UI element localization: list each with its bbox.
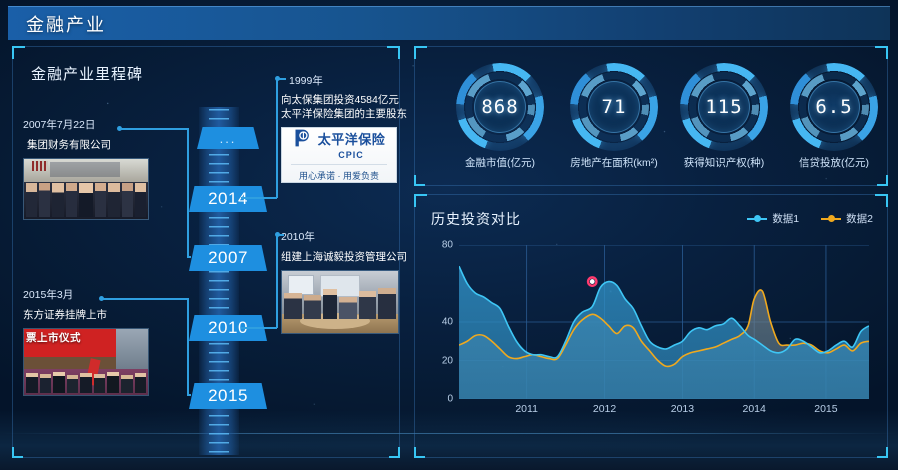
chart-plot[interactable] xyxy=(459,245,869,399)
event-date: 2007年7月22日 xyxy=(23,117,173,132)
legend-label: 数据2 xyxy=(846,211,873,226)
timeline-event-2015: 2015年3月 东方证券挂牌上市 票上市仪式 xyxy=(23,287,173,396)
connector-v-1999 xyxy=(276,78,278,198)
x-tick-label: 2012 xyxy=(593,403,616,415)
gauge-label: 信贷投放(亿元) xyxy=(775,155,893,170)
event-text-line1: 东方证券挂牌上市 xyxy=(23,308,173,322)
connector-v-2010 xyxy=(276,234,278,328)
gauge-value: 71 xyxy=(602,96,627,118)
event-date: 2015年3月 xyxy=(23,287,173,302)
event-text-line1: 集团财务有限公司 xyxy=(27,138,173,152)
gauge-label: 获得知识产权(种) xyxy=(665,155,783,170)
timeline-year-2015[interactable]: 2015 xyxy=(189,383,267,409)
chart-area: 0204080 20112012201320142015 xyxy=(429,241,875,421)
timeline-event-2010: 2010年 组建上海诚毅投资管理公司 xyxy=(281,229,403,334)
event-date: 1999年 xyxy=(289,73,399,88)
connector-h2-1999 xyxy=(241,197,277,199)
event-photo-2010 xyxy=(281,270,399,334)
chart-svg xyxy=(459,245,869,399)
connector-v-2015 xyxy=(187,298,189,395)
event-text-line2: 太平洋保险集团的主要股东 xyxy=(281,107,399,121)
x-tick-label: 2013 xyxy=(671,403,694,415)
chart-panel: 历史投资对比 数据1 数据2 0204080 20112012201320142… xyxy=(414,194,888,458)
y-tick-label: 0 xyxy=(431,394,453,405)
x-tick-label: 2014 xyxy=(743,403,766,415)
cpic-brand-en: CPIC xyxy=(338,150,364,160)
gauge-inner-disc: 6.5 xyxy=(808,81,860,133)
gauge-value: 6.5 xyxy=(815,96,852,118)
gauge-label: 房地产在面积(km²) xyxy=(555,155,673,170)
x-tick-label: 2011 xyxy=(515,403,538,415)
gauge-rings: 115 xyxy=(680,63,768,151)
gauge-inner-disc: 115 xyxy=(698,81,750,133)
gauge-inner-disc: 868 xyxy=(474,81,526,133)
timeline-event-1999: 1999年 向太保集团投资4584亿元 太平洋保险集团的主要股东 太平洋保险 C… xyxy=(281,73,399,183)
timeline-badge-more[interactable]: ... xyxy=(197,127,259,149)
connector-h2-2007 xyxy=(187,256,191,258)
timeline-year-2014[interactable]: 2014 xyxy=(189,186,267,212)
kpi-gauge-2[interactable]: 115 获得知识产权(种) xyxy=(665,63,783,181)
connector-h-2007 xyxy=(120,128,188,130)
connector-h-1999 xyxy=(278,78,286,80)
kpi-gauge-1[interactable]: 71 房地产在面积(km²) xyxy=(555,63,673,181)
gauge-label: 金融市值(亿元) xyxy=(441,155,559,170)
page-header: 金融产业 xyxy=(8,6,890,40)
series1-area xyxy=(459,266,869,399)
y-tick-label: 40 xyxy=(431,317,453,328)
cpic-divider xyxy=(291,164,387,165)
timeline-event-2007: 2007年7月22日 集团财务有限公司 xyxy=(23,117,173,220)
timeline-panel-title: 金融产业里程碑 xyxy=(31,63,143,84)
y-tick-label: 80 xyxy=(431,240,453,251)
legend-item-series1[interactable]: 数据1 xyxy=(747,211,799,226)
event-text-line1: 组建上海诚毅投资管理公司 xyxy=(281,250,403,264)
highlight-point xyxy=(590,279,595,284)
gauge-rings: 71 xyxy=(570,63,658,151)
chart-title: 历史投资对比 xyxy=(431,209,521,229)
connector-h2-2010 xyxy=(241,327,277,329)
timeline-panel: 金融产业里程碑 ... 2014 2007 2010 2015 1999年 向太… xyxy=(12,46,400,458)
gauge-rings: 868 xyxy=(456,63,544,151)
event-photo-2007 xyxy=(23,158,149,220)
legend-label: 数据1 xyxy=(772,211,799,226)
cpic-brand-cn: 太平洋保险 xyxy=(318,129,386,148)
kpi-gauge-0[interactable]: 868 金融市值(亿元) xyxy=(441,63,559,181)
event-text-line1: 向太保集团投资4584亿元 xyxy=(281,93,399,107)
cpic-mark-icon xyxy=(293,128,313,148)
y-tick-label: 20 xyxy=(431,355,453,366)
cpic-tagline: 用心承诺 · 用爱负责 xyxy=(299,169,379,182)
kpi-gauge-3[interactable]: 6.5 信贷投放(亿元) xyxy=(775,63,893,181)
page-title: 金融产业 xyxy=(26,11,106,37)
legend-item-series2[interactable]: 数据2 xyxy=(821,211,873,226)
gauge-value: 868 xyxy=(481,96,518,118)
kpi-panel: 868 金融市值(亿元) 71 房地产在面积(km²) 115 获得知识产权(种… xyxy=(414,46,888,186)
gauge-value: 115 xyxy=(705,96,742,118)
legend-swatch-series1-icon xyxy=(747,218,767,220)
cpic-logo-card: 太平洋保险 CPIC 用心承诺 · 用爱负责 xyxy=(281,127,397,183)
connector-h-2010 xyxy=(278,234,284,236)
event-photo-2015: 票上市仪式 xyxy=(23,328,149,396)
photo-caption-2015: 票上市仪式 xyxy=(26,330,81,345)
connector-v-2007 xyxy=(187,128,189,257)
gauge-rings: 6.5 xyxy=(790,63,878,151)
legend-swatch-series2-icon xyxy=(821,218,841,220)
event-date: 2010年 xyxy=(281,229,403,244)
x-tick-label: 2015 xyxy=(814,403,837,415)
connector-h2-2015 xyxy=(187,394,191,396)
timeline-year-2007[interactable]: 2007 xyxy=(189,245,267,271)
series1-line xyxy=(459,266,869,358)
gauge-inner-disc: 71 xyxy=(588,81,640,133)
chart-legend: 数据1 数据2 xyxy=(747,211,873,226)
connector-h-2015 xyxy=(102,298,188,300)
